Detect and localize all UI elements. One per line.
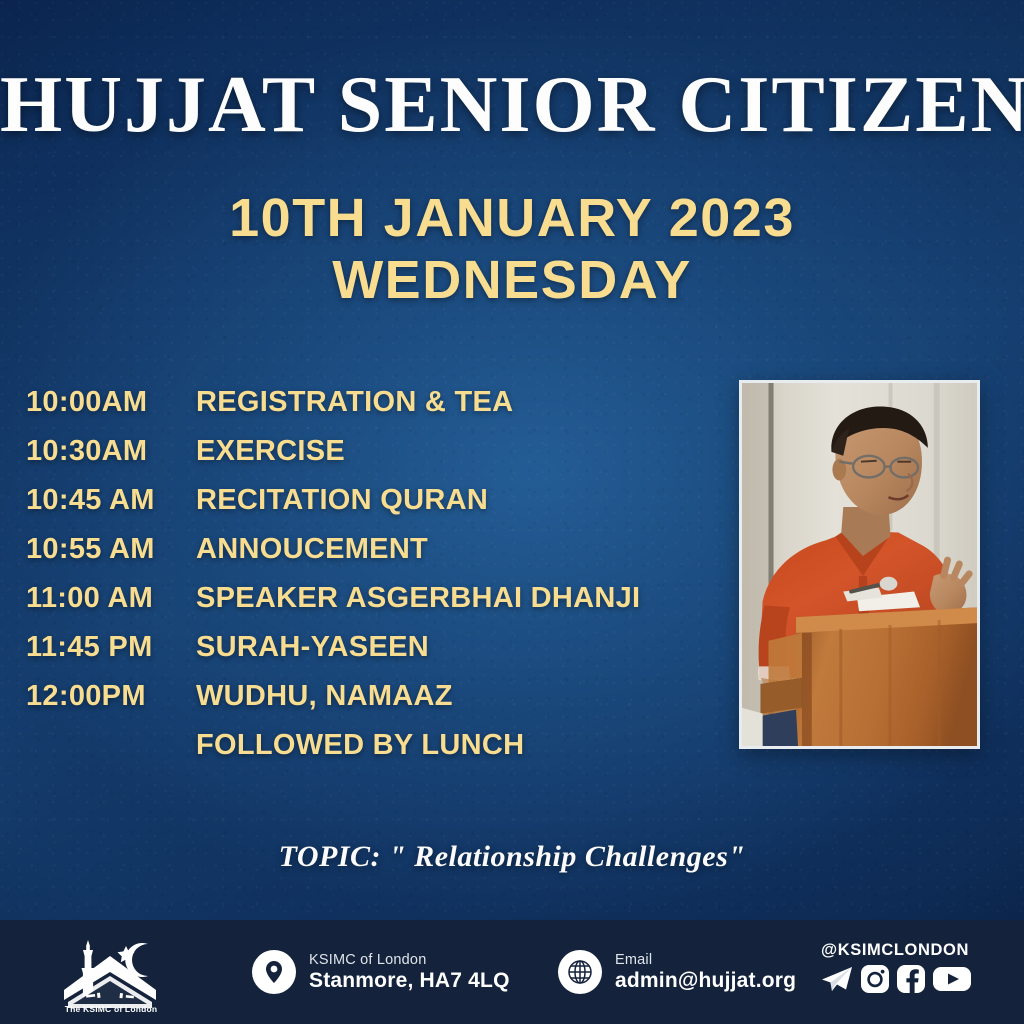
page-title: HUJJAT SENIOR CITIZEN	[0, 60, 1024, 151]
schedule-event: REGISTRATION & TEA	[196, 386, 513, 419]
email-label: Email	[615, 952, 652, 968]
schedule-event: SPEAKER ASGERBHAI DHANJI	[196, 582, 640, 615]
address-block: KSIMC of London Stanmore, HA7 4LQ	[252, 950, 510, 994]
logo-caption: The KSIMC of London	[52, 1004, 170, 1014]
address-label: KSIMC of London	[309, 952, 426, 968]
event-poster: HUJJAT SENIOR CITIZEN 10TH JANUARY 2023 …	[0, 0, 1024, 1024]
event-date-line2: WEDNESDAY	[0, 249, 1024, 311]
footer-bar: The KSIMC of London KSIMC of London Stan…	[0, 920, 1024, 1024]
schedule-row: 11:45 PM SURAH-YASEEN	[26, 631, 716, 680]
speaker-photo	[739, 380, 980, 749]
event-date-line1: 10TH JANUARY 2023	[229, 188, 795, 248]
facebook-icon[interactable]	[896, 964, 926, 994]
schedule-row: 10:45 AM RECITATION QURAN	[26, 484, 716, 533]
telegram-icon[interactable]	[818, 964, 854, 994]
email-value[interactable]: admin@hujjat.org	[615, 969, 796, 992]
location-pin-icon	[252, 950, 296, 994]
schedule-time: 10:55 AM	[26, 533, 196, 566]
topic-line: TOPIC: " Relationship Challenges"	[0, 840, 1024, 874]
schedule-time: 11:00 AM	[26, 582, 196, 615]
schedule-event: RECITATION QURAN	[196, 484, 488, 517]
social-handle: @KSIMCLONDON	[818, 941, 972, 960]
schedule-row: 10:30AM EXERCISE	[26, 435, 716, 484]
schedule-row: 10:55 AM ANNOUCEMENT	[26, 533, 716, 582]
schedule-event: WUDHU, NAMAAZ	[196, 680, 453, 713]
schedule-time: 10:30AM	[26, 435, 196, 468]
schedule-row: 12:00PM WUDHU, NAMAAZ	[26, 680, 716, 729]
schedule-time: 12:00PM	[26, 680, 196, 713]
schedule-event: SURAH-YASEEN	[196, 631, 429, 664]
schedule-list: 10:00AM REGISTRATION & TEA 10:30AM EXERC…	[26, 386, 716, 778]
globe-icon	[558, 950, 602, 994]
schedule-row: 11:00 AM SPEAKER ASGERBHAI DHANJI	[26, 582, 716, 631]
instagram-icon[interactable]	[860, 964, 890, 994]
event-date: 10TH JANUARY 2023 WEDNESDAY	[0, 187, 1024, 311]
schedule-time: 10:45 AM	[26, 484, 196, 517]
schedule-time: 11:45 PM	[26, 631, 196, 664]
schedule-event: ANNOUCEMENT	[196, 533, 428, 566]
email-block: Email admin@hujjat.org	[558, 950, 796, 994]
schedule-row: FOLLOWED BY LUNCH	[26, 729, 716, 778]
schedule-time: 10:00AM	[26, 386, 196, 419]
youtube-icon[interactable]	[932, 964, 972, 994]
social-block: @KSIMCLONDON	[818, 941, 972, 994]
address-value: Stanmore, HA7 4LQ	[309, 969, 510, 992]
schedule-event: FOLLOWED BY LUNCH	[196, 729, 524, 762]
schedule-row: 10:00AM REGISTRATION & TEA	[26, 386, 716, 435]
schedule-event: EXERCISE	[196, 435, 345, 468]
